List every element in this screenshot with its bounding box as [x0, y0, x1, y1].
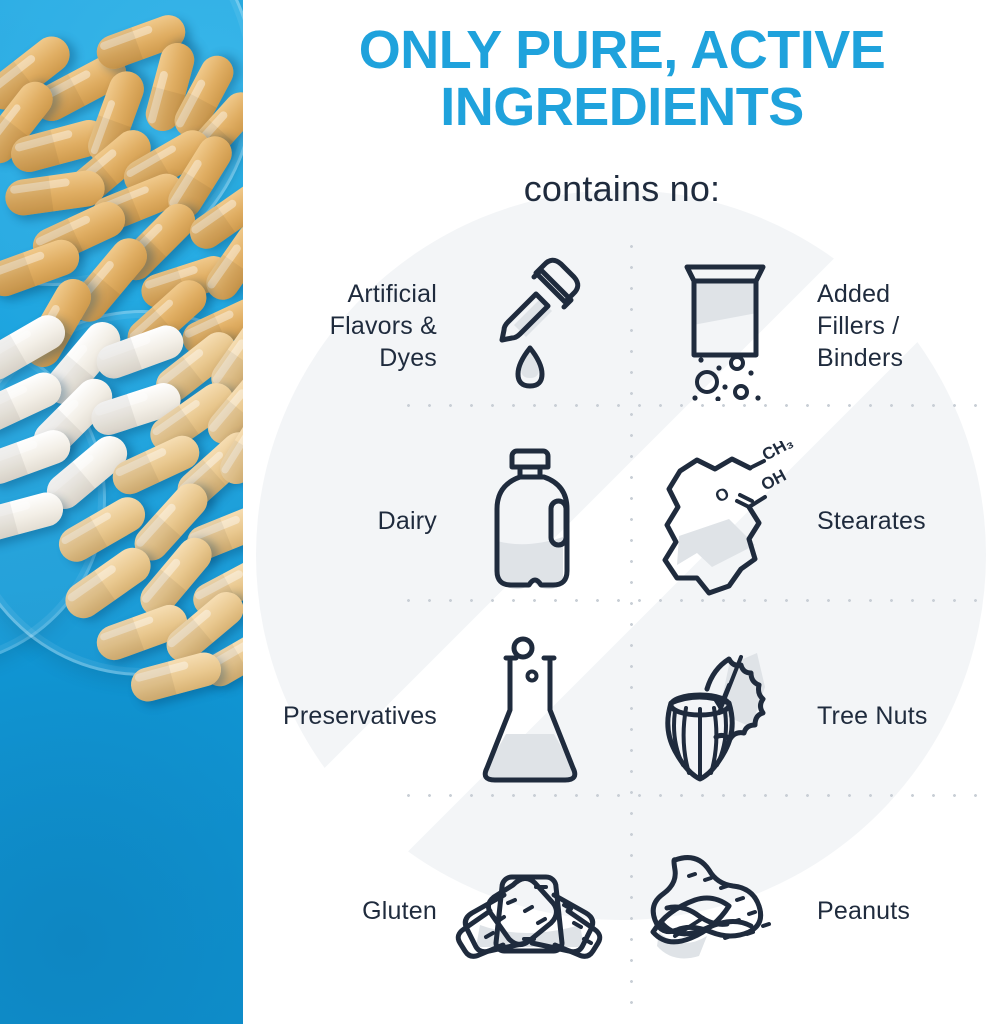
milk-jug-icon — [437, 428, 622, 613]
item-label: Gluten — [257, 895, 437, 927]
exclusion-grid: Artificial Flavors & Dyes — [243, 228, 1001, 1008]
horizontal-dotted-divider — [398, 404, 978, 407]
grid-cell-artificial-flavors: Artificial Flavors & Dyes — [243, 228, 622, 423]
erlenmeyer-flask-icon — [437, 623, 622, 808]
page-subtitle: contains no: — [243, 168, 1001, 210]
item-label: Added Fillers / Binders — [817, 278, 997, 374]
grid-cell-added-fillers: Added Fillers / Binders — [622, 228, 1001, 423]
item-label: Dairy — [257, 505, 437, 537]
content-panel: ONLY PURE, ACTIVE INGREDIENTS contains n… — [243, 0, 1001, 1024]
hazelnut-icon — [632, 623, 817, 808]
grid-cell-peanuts: Peanuts — [622, 813, 1001, 1008]
grid-cell-gluten: Gluten — [243, 813, 622, 1008]
horizontal-dotted-divider — [398, 794, 978, 797]
fatty-acid-molecule-icon: CH₃ O OH — [632, 428, 817, 613]
item-label: Stearates — [817, 505, 997, 537]
page-title: ONLY PURE, ACTIVE INGREDIENTS — [243, 22, 1001, 135]
grid-row: Artificial Flavors & Dyes — [243, 228, 1001, 423]
title-line-2: INGREDIENTS — [243, 79, 1001, 136]
peanut-icon — [632, 818, 817, 1003]
grid-row: Dairy — [243, 423, 1001, 618]
title-line-1: ONLY PURE, ACTIVE — [243, 22, 1001, 79]
grid-row: Gluten — [243, 813, 1001, 1008]
svg-text:OH: OH — [758, 465, 789, 494]
powder-container-icon — [632, 233, 817, 418]
dropper-icon — [437, 233, 622, 418]
grid-row: Preservatives — [243, 618, 1001, 813]
infographic-page: ONLY PURE, ACTIVE INGREDIENTS contains n… — [0, 0, 1001, 1024]
croissant-icon — [437, 818, 622, 1003]
grid-cell-stearates: CH₃ O OH Stearates — [622, 423, 1001, 618]
grid-cell-tree-nuts: Tree Nuts — [622, 618, 1001, 813]
item-label: Preservatives — [257, 700, 437, 732]
product-photo — [0, 0, 243, 1024]
item-label: Artificial Flavors & Dyes — [257, 278, 437, 374]
grid-cell-preservatives: Preservatives — [243, 618, 622, 813]
grid-cell-dairy: Dairy — [243, 423, 622, 618]
horizontal-dotted-divider — [398, 599, 978, 602]
item-label: Peanuts — [817, 895, 997, 927]
svg-text:O: O — [712, 483, 733, 506]
item-label: Tree Nuts — [817, 700, 997, 732]
